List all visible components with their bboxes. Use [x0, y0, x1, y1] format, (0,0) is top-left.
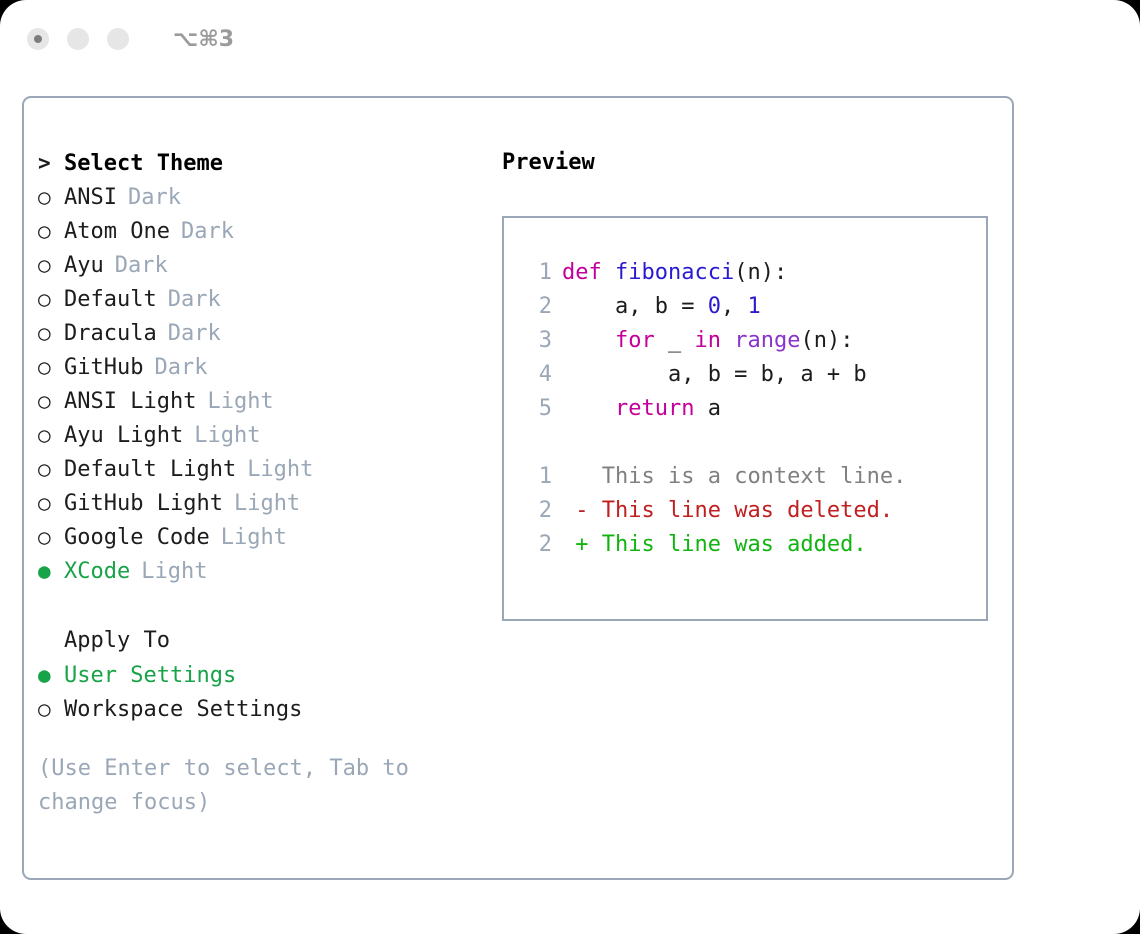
theme-option-label: Google Code [64, 521, 210, 555]
code-line: 2 a, b = 0, 1 [504, 290, 986, 324]
theme-option-label: ANSI Light [64, 385, 196, 419]
code-token: a, b = b, a + b [562, 362, 867, 387]
theme-variant-badge: Light [141, 555, 207, 589]
theme-option-ayu-light[interactable]: ○Ayu LightLight [38, 418, 498, 452]
theme-variant-badge: Dark [154, 351, 207, 385]
code-token: in [694, 328, 721, 353]
prompt-caret-icon: > [38, 146, 64, 180]
diff-text: This is a context line. [589, 464, 907, 489]
line-number: 3 [526, 324, 552, 358]
theme-variant-badge: Dark [115, 249, 168, 283]
diff-sign: - [562, 498, 589, 523]
traffic-light-minimize-icon[interactable] [67, 28, 89, 50]
theme-variant-badge: Dark [168, 317, 221, 351]
theme-variant-badge: Light [247, 453, 313, 487]
keyboard-shortcut-label: ⌥⌘3 [173, 27, 234, 52]
theme-option-dracula[interactable]: ○DraculaDark [38, 316, 498, 350]
theme-option-ansi-light[interactable]: ○ANSI LightLight [38, 384, 498, 418]
theme-selector-column: > Select Theme ○ANSIDark○Atom OneDark○Ay… [38, 146, 498, 820]
diff-sample: 1 This is a context line.2 - This line w… [504, 460, 986, 562]
radio-unselected-icon: ○ [38, 384, 64, 418]
apply-to-option-user-settings[interactable]: ●User Settings [38, 658, 498, 692]
code-token: (n): [734, 260, 787, 285]
radio-unselected-icon: ○ [38, 418, 64, 452]
code-token: fibonacci [615, 260, 734, 285]
theme-option-label: Ayu Light [64, 419, 183, 453]
traffic-light-dot-inner [34, 35, 42, 43]
code-line: 4 a, b = b, a + b [504, 358, 986, 392]
radio-unselected-icon: ○ [38, 692, 64, 726]
theme-option-label: Atom One [64, 215, 170, 249]
theme-variant-badge: Dark [128, 181, 181, 215]
line-number: 1 [526, 460, 552, 494]
diff-line-ctx: 1 This is a context line. [504, 460, 986, 494]
code-token: return [615, 396, 694, 421]
title-bar: ⌥⌘3 [0, 0, 1140, 78]
traffic-light-maximize-icon[interactable] [107, 28, 129, 50]
diff-text: This line was added. [589, 532, 867, 557]
preview-column: Preview 1def fibonacci(n):2 a, b = 0, 13… [502, 146, 1002, 621]
spacer [504, 426, 986, 460]
code-token: 0 [708, 294, 721, 319]
code-token: range [734, 328, 800, 353]
keyboard-hint-line-2: change focus) [38, 786, 438, 820]
code-token: a, b = [562, 294, 708, 319]
theme-variant-badge: Light [234, 487, 300, 521]
theme-variant-badge: Dark [168, 283, 221, 317]
select-theme-title: Select Theme [64, 147, 223, 181]
diff-line-del: 2 - This line was deleted. [504, 494, 986, 528]
line-number: 4 [526, 358, 552, 392]
radio-unselected-icon: ○ [38, 452, 64, 486]
code-token: for [615, 328, 655, 353]
theme-variant-badge: Light [207, 385, 273, 419]
theme-option-github-light[interactable]: ○GitHub LightLight [38, 486, 498, 520]
diff-sign: + [562, 532, 589, 557]
theme-option-label: Ayu [64, 249, 104, 283]
radio-unselected-icon: ○ [38, 486, 64, 520]
code-line: 1def fibonacci(n): [504, 256, 986, 290]
code-token: , [721, 294, 748, 319]
line-number: 2 [526, 290, 552, 324]
spacer [38, 726, 498, 752]
code-token [562, 328, 615, 353]
radio-unselected-icon: ○ [38, 350, 64, 384]
select-theme-header: > Select Theme [38, 146, 498, 180]
keyboard-hint: (Use Enter to select, Tab to change focu… [38, 752, 438, 820]
radio-unselected-icon: ○ [38, 214, 64, 248]
radio-unselected-icon: ○ [38, 248, 64, 282]
code-token [562, 396, 615, 421]
code-token: a [694, 396, 721, 421]
code-line: 3 for _ in range(n): [504, 324, 986, 358]
theme-option-google-code[interactable]: ○Google CodeLight [38, 520, 498, 554]
theme-option-label: Default Light [64, 453, 236, 487]
radio-unselected-icon: ○ [38, 180, 64, 214]
radio-selected-icon: ● [38, 554, 64, 588]
traffic-light-buttons [27, 28, 129, 50]
radio-unselected-icon: ○ [38, 282, 64, 316]
apply-to-option-label: Workspace Settings [64, 693, 302, 727]
apply-to-heading: Apply To [38, 624, 498, 658]
code-token: 1 [747, 294, 760, 319]
app-window: ⌥⌘3 > Select Theme ○ANSIDark○Atom OneDar… [0, 0, 1140, 934]
apply-to-option-workspace-settings[interactable]: ○Workspace Settings [38, 692, 498, 726]
diff-line-add: 2 + This line was added. [504, 528, 986, 562]
code-token [721, 328, 734, 353]
traffic-light-close-icon[interactable] [27, 28, 49, 50]
theme-option-label: GitHub Light [64, 487, 223, 521]
theme-option-github[interactable]: ○GitHubDark [38, 350, 498, 384]
apply-to-option-label: User Settings [64, 659, 236, 693]
code-line: 5 return a [504, 392, 986, 426]
code-token: (n): [800, 328, 853, 353]
code-token: def [562, 260, 615, 285]
theme-option-label: Default [64, 283, 157, 317]
theme-option-xcode[interactable]: ●XCodeLight [38, 554, 498, 588]
theme-option-default[interactable]: ○DefaultDark [38, 282, 498, 316]
main-panel: > Select Theme ○ANSIDark○Atom OneDark○Ay… [22, 96, 1014, 880]
code-sample: 1def fibonacci(n):2 a, b = 0, 13 for _ i… [504, 256, 986, 426]
theme-option-ansi[interactable]: ○ANSIDark [38, 180, 498, 214]
theme-list: ○ANSIDark○Atom OneDark○AyuDark○DefaultDa… [38, 180, 498, 588]
preview-box: 1def fibonacci(n):2 a, b = 0, 13 for _ i… [502, 216, 988, 621]
diff-sign [562, 464, 589, 489]
radio-unselected-icon: ○ [38, 520, 64, 554]
theme-option-default-light[interactable]: ○Default LightLight [38, 452, 498, 486]
theme-option-label: Dracula [64, 317, 157, 351]
theme-option-label: ANSI [64, 181, 117, 215]
code-token: _ [655, 328, 695, 353]
theme-option-atom-one[interactable]: ○Atom OneDark [38, 214, 498, 248]
radio-selected-icon: ● [38, 658, 64, 692]
line-number: 2 [526, 528, 552, 562]
keyboard-hint-line-1: (Use Enter to select, Tab to [38, 752, 438, 786]
line-number: 5 [526, 392, 552, 426]
radio-unselected-icon: ○ [38, 316, 64, 350]
theme-variant-badge: Light [221, 521, 287, 555]
theme-option-label: GitHub [64, 351, 143, 385]
theme-option-ayu[interactable]: ○AyuDark [38, 248, 498, 282]
apply-to-options: ●User Settings○Workspace Settings [38, 658, 498, 726]
diff-text: This line was deleted. [589, 498, 894, 523]
theme-option-label: XCode [64, 555, 130, 589]
theme-variant-badge: Light [194, 419, 260, 453]
line-number: 2 [526, 494, 552, 528]
spacer [38, 588, 498, 624]
theme-variant-badge: Dark [181, 215, 234, 249]
preview-title: Preview [502, 146, 1002, 180]
line-number: 1 [526, 256, 552, 290]
